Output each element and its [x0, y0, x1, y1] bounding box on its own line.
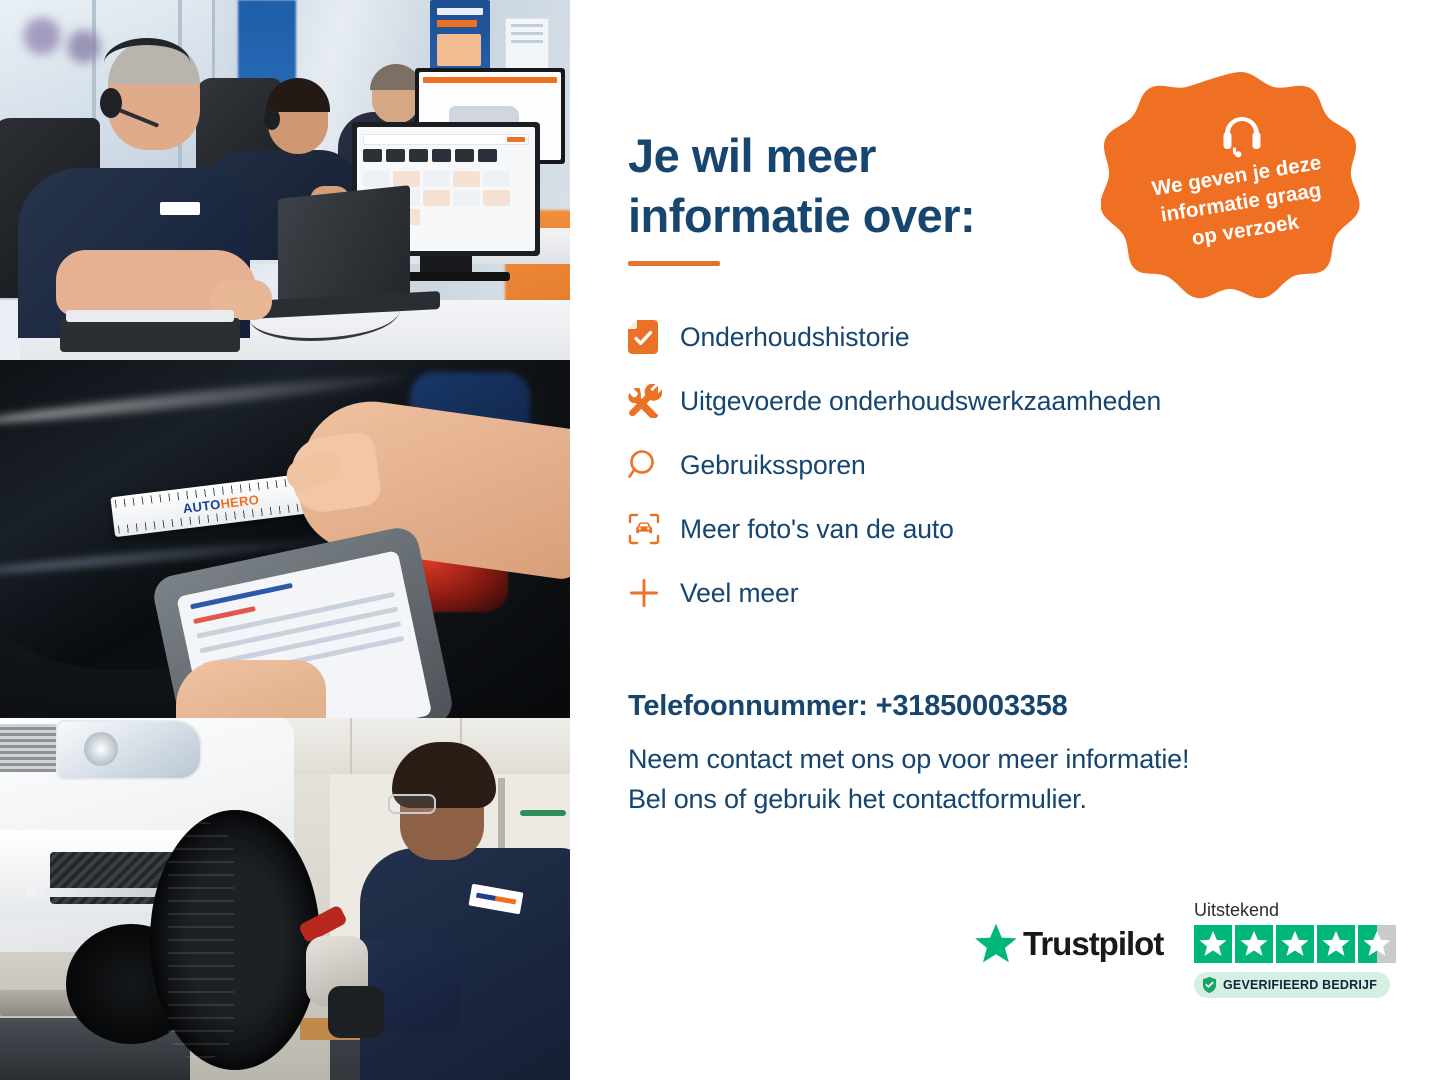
call-center-agents-photo — [0, 0, 570, 360]
feature-label: Uitgevoerde onderhoudswerkzaamheden — [680, 386, 1161, 417]
contact-line-2: Bel ons of gebruik het contactformulier. — [628, 784, 1087, 814]
contact-line-1: Neem contact met ons op voor meer inform… — [628, 744, 1189, 774]
feature-label: Meer foto's van de auto — [680, 514, 954, 545]
photo-column: AUTOHERO — [0, 0, 570, 1080]
magnifier-icon — [628, 449, 680, 481]
trustpilot-widget[interactable]: Trustpilot Uitstekend GEVERIFIEERD BEDRI… — [974, 898, 1394, 1008]
phone-number[interactable]: Telefoonnummer: +31850003358 — [628, 690, 1068, 723]
headline-line-1: Je wil meer — [628, 129, 876, 182]
verified-company-badge: GEVERIFIEERD BEDRIJF — [1194, 972, 1390, 998]
content-panel: Je wil meer informatie over: We geven je… — [570, 0, 1440, 1080]
feature-label: Gebruikssporen — [680, 450, 866, 481]
tools-icon — [628, 384, 680, 418]
page-title: Je wil meer informatie over: — [628, 126, 1148, 244]
outdoor-foliage — [6, 8, 126, 78]
car-inspection-photo: AUTOHERO — [0, 360, 570, 718]
workshop-technician-photo — [0, 718, 570, 1080]
star-4 — [1317, 925, 1355, 963]
feature-label: Onderhoudshistorie — [680, 322, 909, 353]
trustpilot-stars — [1194, 925, 1396, 963]
green-hose — [520, 810, 566, 816]
document-check-icon — [628, 320, 680, 354]
feature-item-meer-fotos: Meer foto's van de auto — [628, 497, 1428, 561]
feature-list: Onderhoudshistorie Uitgevoerde onderhoud… — [628, 305, 1428, 625]
car-grille — [0, 724, 60, 772]
shield-check-icon — [1202, 977, 1217, 993]
car-headlight — [56, 720, 202, 780]
trustpilot-logo: Trustpilot — [974, 922, 1163, 966]
trustpilot-rating-label: Uitstekend — [1194, 900, 1279, 921]
feature-label: Veel meer — [680, 578, 798, 609]
feature-item-gebruikssporen: Gebruikssporen — [628, 433, 1428, 497]
headset-icon — [1218, 112, 1266, 160]
feature-item-veel-meer: Veel meer — [628, 561, 1428, 625]
car-scan-icon — [628, 513, 680, 545]
trustpilot-wordmark: Trustpilot — [1023, 925, 1163, 963]
headset-earcup — [264, 108, 280, 130]
star-2 — [1235, 925, 1273, 963]
headset-earcup — [100, 88, 122, 118]
plus-icon — [628, 577, 680, 609]
star-3 — [1276, 925, 1314, 963]
feature-item-onderhoudshistorie: Onderhoudshistorie — [628, 305, 1428, 369]
star-5-half — [1358, 925, 1396, 963]
feature-item-onderhoudswerkzaamheden: Uitgevoerde onderhoudswerkzaamheden — [628, 369, 1428, 433]
title-divider — [628, 261, 720, 266]
technician-glasses — [388, 794, 436, 814]
inspector-hand — [176, 660, 326, 718]
info-on-request-badge: We geven je deze informatie graag op ver… — [1101, 66, 1381, 346]
tire-tread — [168, 822, 234, 1060]
verified-label: GEVERIFIEERD BEDRIJF — [1223, 978, 1377, 992]
star-1 — [1194, 925, 1232, 963]
contact-copy: Neem contact met ons op voor meer inform… — [628, 740, 1388, 820]
desk-tablet — [60, 318, 240, 352]
trustpilot-star-icon — [974, 922, 1018, 966]
headline-line-2: informatie over: — [628, 189, 975, 242]
work-glove — [328, 986, 384, 1038]
polo-logo — [160, 202, 200, 215]
